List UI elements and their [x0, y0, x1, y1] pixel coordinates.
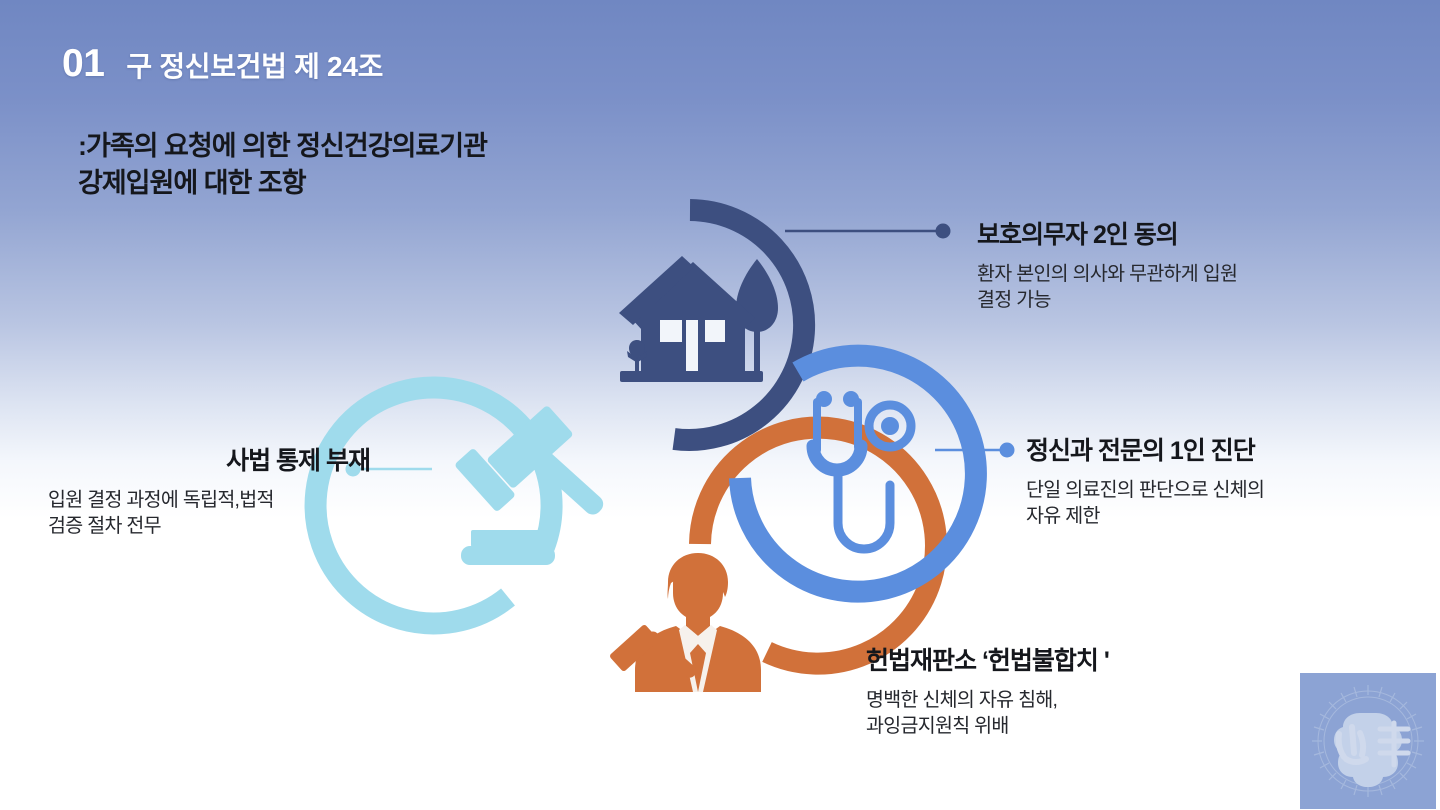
slide-root: 01 구 정신보건법 제 24조 :가족의 요청에 의한 정신건강의료기관 강제…: [0, 0, 1440, 810]
stethoscope-earpieces: [816, 391, 859, 407]
connector-protector-consent: [785, 224, 951, 239]
callout-protector-consent: 보호의무자 2인 동의 환자 본인의 의사와 무관하게 입원 결정 가능: [977, 222, 1237, 313]
callout-single-psychiatrist: 정신과 전문의 1인 진단 단일 의료진의 판단으로 신체의 자유 제한: [1026, 438, 1264, 529]
psychology-watermark-logo: [1300, 673, 1436, 809]
callout-title: 사법 통제 부재: [48, 448, 370, 476]
callout-no-judicial-control: 사법 통제 부재 입원 결정 과정에 독립적,법적 검증 절차 전무: [48, 448, 370, 539]
callout-body: 입원 결정 과정에 독립적,법적 검증 절차 전무: [48, 487, 370, 539]
callout-title: 헌법재판소 ‘헌법불합치 ': [866, 648, 1109, 676]
callout-body: 단일 의료진의 판단으로 신체의 자유 제한: [1026, 477, 1264, 529]
infographic-stage: [0, 0, 1440, 810]
callout-title: 정신과 전문의 1인 진단: [1026, 438, 1264, 466]
callout-body: 환자 본인의 의사와 무관하게 입원 결정 가능: [977, 261, 1237, 313]
callout-body: 명백한 신체의 자유 침해, 과잉금지원칙 위배: [866, 687, 1109, 739]
house-icon: [619, 256, 778, 382]
infographic-svg: [0, 0, 1440, 810]
logo-mark: [1300, 673, 1436, 809]
callout-constitutional-court: 헌법재판소 ‘헌법불합치 ' 명백한 신체의 자유 침해, 과잉금지원칙 위배: [866, 648, 1109, 739]
callout-title: 보호의무자 2인 동의: [977, 222, 1237, 250]
gavel-icon: [454, 405, 607, 565]
judge-icon: [609, 553, 761, 692]
